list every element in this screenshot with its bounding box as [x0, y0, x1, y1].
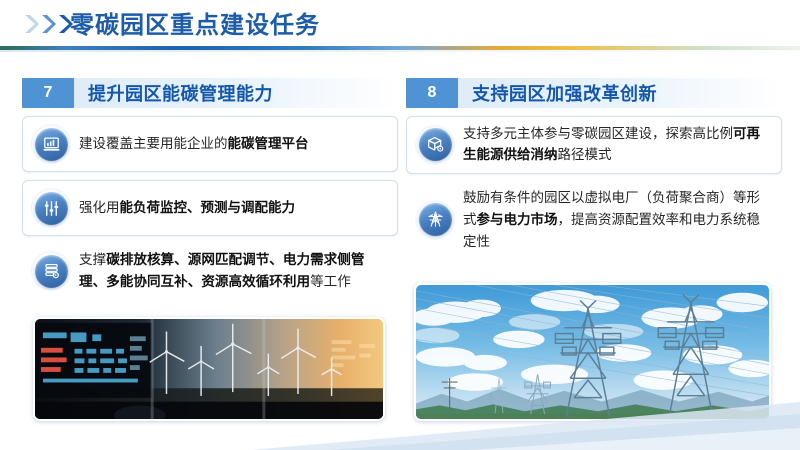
- icon-container: [31, 188, 71, 228]
- list-item-text: 鼓励有条件的园区以虚拟电厂（负荷聚合商）等形式参与电力市场，提高资源配置效率和电…: [463, 187, 771, 253]
- section-number-badge: 7: [22, 78, 74, 108]
- list-item[interactable]: 强化用能负荷监控、预测与调配能力: [22, 180, 398, 236]
- list-item[interactable]: 鼓励有条件的园区以虚拟电厂（负荷聚合商）等形式参与电力市场，提高资源配置效率和电…: [406, 182, 782, 261]
- column-left: 7 提升园区能碳管理能力 建设覆盖主要用能企业的能碳管理平台: [22, 78, 398, 301]
- icon-container: [415, 200, 455, 240]
- list-item-text: 建设覆盖主要用能企业的能碳管理平台: [79, 134, 309, 155]
- equalizer-sliders-icon: [35, 192, 68, 225]
- section-header-8: 8 支持园区加强改革创新: [406, 78, 782, 108]
- section-header-7: 7 提升园区能碳管理能力: [22, 78, 398, 108]
- icon-container: [31, 251, 71, 291]
- double-chevron-right-icon: [24, 13, 74, 35]
- list-item[interactable]: 支持多元主体参与零碳园区建设，探索高比例可再生能源供给消纳路径模式: [406, 116, 782, 174]
- cube-gear-icon: [419, 128, 452, 161]
- column-right: 8 支持园区加强改革创新 支持多元主体参与零碳园区建设，探索高比例可再生能源供给…: [406, 78, 782, 260]
- slide-canvas: 零碳园区重点建设任务 7 提升园区能碳管理能力: [0, 0, 800, 450]
- list-item-text: 强化用能负荷监控、预测与调配能力: [79, 198, 295, 219]
- list-item[interactable]: 建设覆盖主要用能企业的能碳管理平台: [22, 116, 398, 172]
- section-title: 支持园区加强改革创新: [458, 78, 657, 108]
- text-plain: 支持多元主体参与零碳园区建设，探索高比例: [463, 126, 733, 141]
- list-item-text: 支撑碳排放核算、源网匹配调节、电力需求侧管理、多能协同互补、资源高效循环利用等工…: [79, 249, 387, 293]
- text-tail: 路径模式: [558, 147, 612, 162]
- slide-header: 零碳园区重点建设任务: [0, 0, 800, 52]
- list-item-text: 支持多元主体参与零碳园区建设，探索高比例可再生能源供给消纳路径模式: [463, 124, 771, 166]
- text-plain: 建设覆盖主要用能企业的: [79, 136, 228, 151]
- icon-container: [31, 124, 71, 164]
- transmission-tower-icon: [419, 203, 452, 236]
- page-title: 零碳园区重点建设任务: [70, 5, 320, 40]
- text-tail: 等工作: [310, 274, 351, 289]
- wind-farm-control-room-photo: [33, 317, 385, 421]
- text-emphasis: 参与电力市场: [477, 212, 558, 227]
- icon-container: [415, 125, 455, 165]
- server-gear-icon: [35, 255, 68, 288]
- text-emphasis: 能碳管理平台: [228, 136, 309, 151]
- monitor-chart-icon: [35, 128, 68, 161]
- list-item[interactable]: 支撑碳排放核算、源网匹配调节、电力需求侧管理、多能协同互补、资源高效循环利用等工…: [22, 244, 398, 301]
- text-plain: 强化用: [79, 200, 120, 215]
- transmission-towers-sky-photo: [414, 283, 771, 421]
- text-plain: 支撑: [79, 252, 106, 267]
- text-emphasis: 能负荷监控、预测与调配能力: [120, 200, 296, 215]
- header-divider-shadow: [0, 50, 800, 52]
- section-title: 提升园区能碳管理能力: [74, 78, 273, 108]
- section-number-badge: 8: [406, 78, 458, 108]
